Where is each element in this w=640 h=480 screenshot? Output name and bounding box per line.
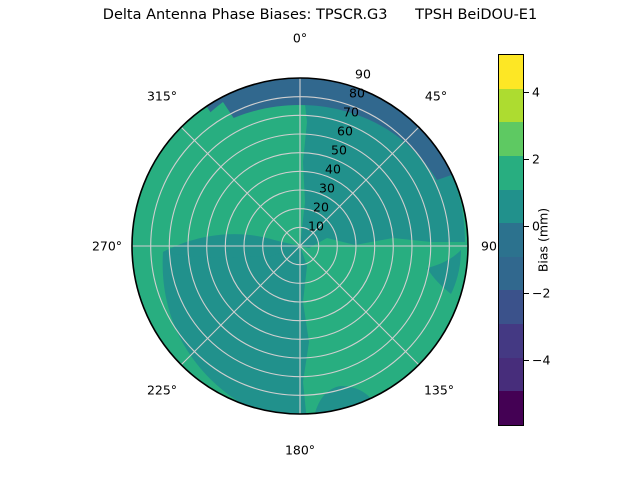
polar-plot-svg — [131, 52, 469, 440]
colorbar-band-4 — [499, 257, 523, 291]
r-tick-50: 50 — [331, 143, 347, 158]
r-tick-40: 40 — [325, 162, 341, 177]
colorbar-tick-0 — [524, 226, 529, 227]
r-tick-10: 10 — [308, 219, 324, 234]
r-tick-30: 30 — [319, 181, 335, 196]
colorbar[interactable]: 4 2 0 −2 −4 — [498, 54, 524, 426]
r-tick-70: 70 — [343, 105, 359, 120]
colorbar-band-3 — [499, 290, 523, 324]
colorbar-band-0 — [499, 391, 523, 425]
polar-axes[interactable]: 0° 45° 90 135° 180° 225° 270° 315° 10 20… — [131, 52, 469, 440]
colorbar-band-7 — [499, 156, 523, 190]
colorbar-tick-minus2 — [524, 293, 529, 294]
colorbar-band-1 — [499, 358, 523, 392]
theta-tick-225: 225° — [147, 383, 177, 398]
colorbar-gradient — [498, 54, 524, 426]
colorbar-ticklabel-4: 4 — [532, 85, 540, 100]
colorbar-band-10 — [499, 55, 523, 89]
theta-tick-90: 90 — [481, 239, 497, 254]
colorbar-band-2 — [499, 324, 523, 358]
figure-canvas: Delta Antenna Phase Biases: TPSCR.G3 TPS… — [0, 0, 640, 480]
colorbar-band-9 — [499, 89, 523, 123]
colorbar-tick-4 — [524, 92, 529, 93]
colorbar-tick-minus4 — [524, 360, 529, 361]
polar-grid-spokes — [132, 78, 468, 414]
colorbar-tick-2 — [524, 159, 529, 160]
colorbar-band-8 — [499, 122, 523, 156]
theta-tick-135: 135° — [424, 383, 454, 398]
r-tick-80: 80 — [349, 86, 365, 101]
figure-title: Delta Antenna Phase Biases: TPSCR.G3 TPS… — [0, 7, 640, 23]
colorbar-axis-label: Bias (mm) — [536, 208, 551, 272]
theta-tick-45: 45° — [425, 89, 447, 104]
theta-tick-270: 270° — [92, 239, 122, 254]
colorbar-ticklabel-2: 2 — [532, 152, 540, 167]
colorbar-ticklabel-minus4: −4 — [532, 353, 550, 368]
theta-tick-315: 315° — [147, 89, 177, 104]
colorbar-ticklabel-minus2: −2 — [532, 286, 550, 301]
r-tick-60: 60 — [337, 124, 353, 139]
colorbar-band-6 — [499, 190, 523, 224]
theta-tick-180: 180° — [285, 443, 315, 458]
contour-band-minus1-to-0-sw — [163, 236, 309, 422]
r-tick-90: 90 — [355, 67, 371, 82]
r-tick-20: 20 — [313, 200, 329, 215]
theta-tick-0: 0° — [293, 31, 307, 46]
colorbar-band-5 — [499, 223, 523, 257]
